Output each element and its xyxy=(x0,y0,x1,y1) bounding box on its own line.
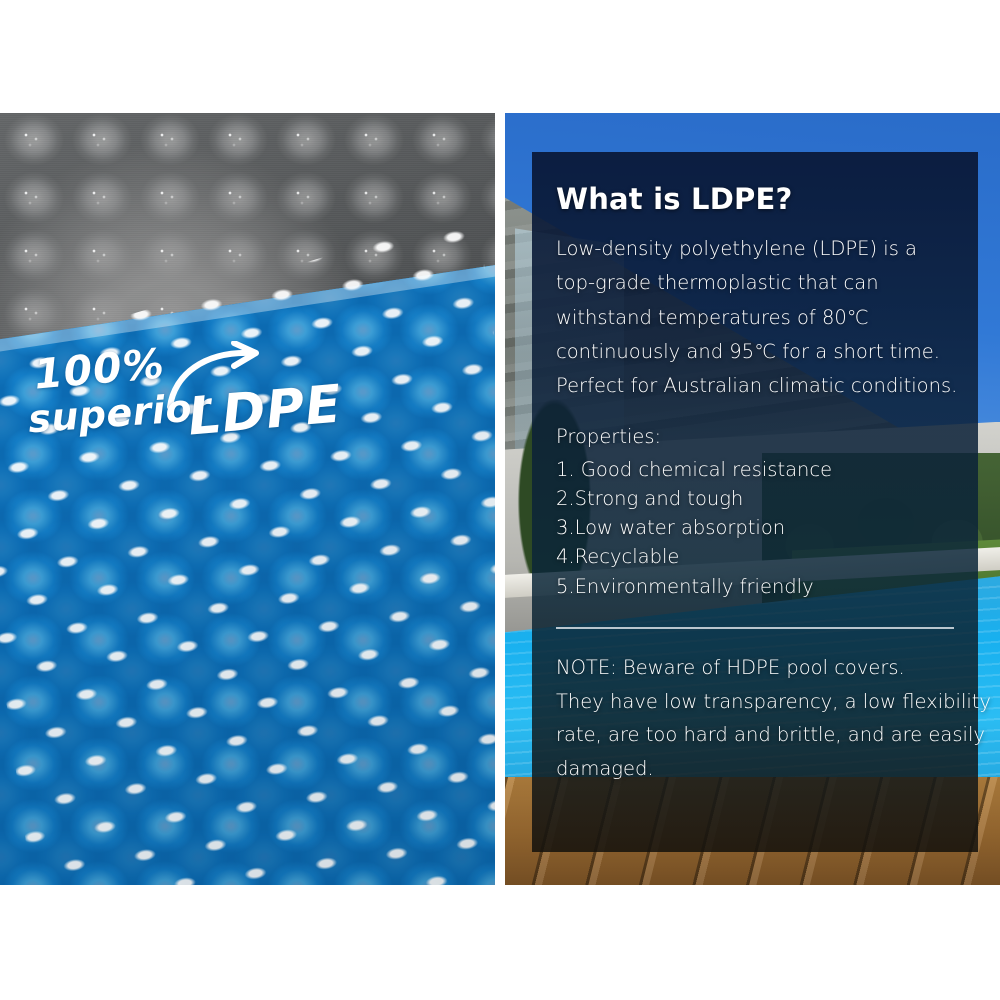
callout-material: LDPE xyxy=(186,374,345,447)
list-item: 5.Environmentally friendly xyxy=(556,572,954,601)
list-item: 2.Strong and tough xyxy=(556,484,954,513)
properties-heading: Properties: xyxy=(556,425,954,448)
infographic-canvas: 100% superior LDPE What is LDPE? Low-den… xyxy=(0,0,1000,1000)
properties-list: 1. Good chemical resistance 2.Strong and… xyxy=(556,455,954,601)
note-paragraph: NOTE: Beware of HDPE pool covers. They h… xyxy=(556,655,954,782)
info-card-overlay: What is LDPE? Low-density polyethylene (… xyxy=(532,152,978,852)
intro-paragraph: Low-density polyethylene (LDPE) is a top… xyxy=(556,236,954,399)
left-image-panel: 100% superior LDPE xyxy=(0,113,495,885)
material-callout: 100% superior LDPE xyxy=(28,345,358,485)
note-line: They have low transparency, a low flexib… xyxy=(556,689,954,715)
note-line: damaged. xyxy=(556,756,954,782)
intro-line: Low-density polyethylene (LDPE) is a xyxy=(556,236,954,261)
right-info-panel: What is LDPE? Low-density polyethylene (… xyxy=(505,113,1000,885)
list-item: 4.Recyclable xyxy=(556,542,954,571)
section-divider xyxy=(556,627,954,629)
intro-line: continuously and 95℃ for a short time. xyxy=(556,339,954,364)
note-line: rate, are too hard and brittle, and are … xyxy=(556,722,954,748)
note-line: NOTE: Beware of HDPE pool covers. xyxy=(556,655,954,681)
card-title: What is LDPE? xyxy=(556,182,954,216)
intro-line: withstand temperatures of 80℃ xyxy=(556,305,954,330)
intro-line: top-grade thermoplastic that can xyxy=(556,270,954,295)
list-item: 1. Good chemical resistance xyxy=(556,455,954,484)
intro-line: Perfect for Australian climatic conditio… xyxy=(556,373,954,398)
list-item: 3.Low water absorption xyxy=(556,513,954,542)
